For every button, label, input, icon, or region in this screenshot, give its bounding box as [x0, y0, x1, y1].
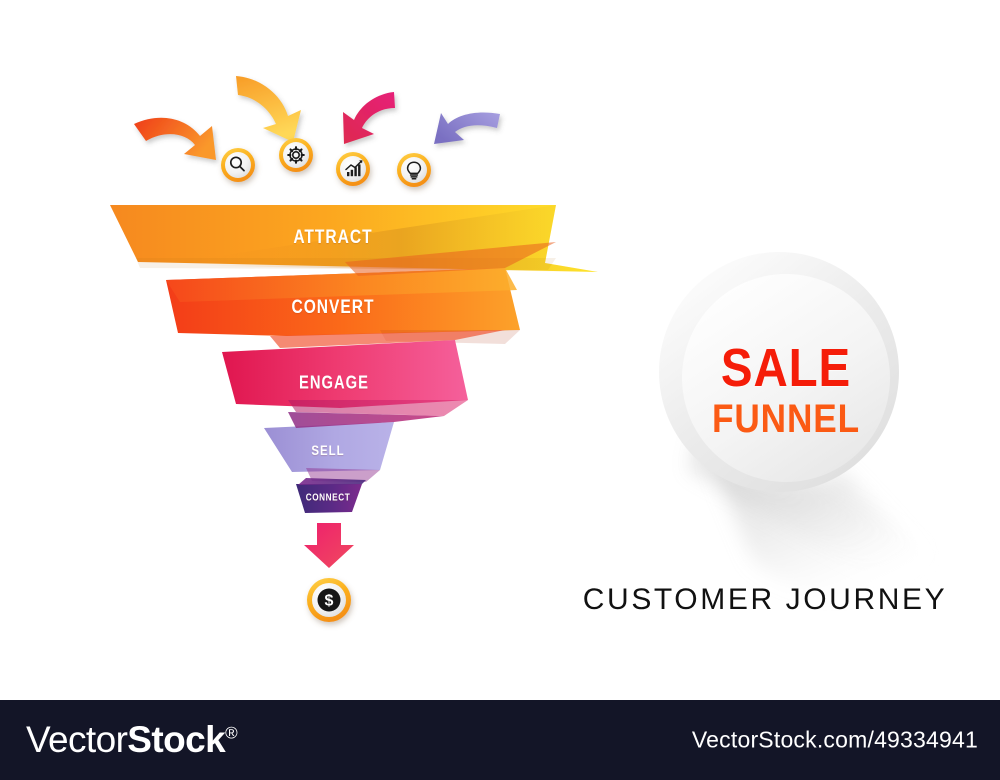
logo-word-stock: Stock — [127, 719, 225, 760]
arrow-purple-icon — [434, 112, 500, 144]
growth-chart-icon[interactable] — [336, 152, 370, 186]
sale-funnel-badge[interactable] — [659, 252, 930, 596]
logo-word-vector: Vector — [26, 719, 127, 760]
arrow-orange-red-icon — [134, 118, 216, 160]
badge-inner-face — [682, 274, 890, 482]
funnel-group — [110, 205, 598, 513]
lightbulb-icon[interactable] — [397, 153, 431, 187]
search-icon[interactable] — [221, 148, 255, 182]
watermark-bar: VectorStock® VectorStock.com/49334941 — [0, 700, 1000, 780]
outflow-group: $ — [304, 523, 354, 622]
watermark-url: VectorStock.com/49334941 — [692, 727, 978, 754]
artboard: $ ATTRACT CONVERT ENGAGE SELL CONNECT SA… — [0, 0, 1000, 700]
down-arrow-icon — [304, 523, 354, 568]
funnel-stage-connect[interactable] — [296, 478, 366, 513]
top-arrow-group — [134, 76, 500, 160]
dollar-coin-icon[interactable]: $ — [307, 578, 351, 622]
funnel-stage-sell[interactable] — [264, 412, 444, 482]
infographic-root: $ ATTRACT CONVERT ENGAGE SELL CONNECT SA… — [0, 0, 1000, 780]
gear-icon[interactable] — [279, 138, 313, 172]
arrow-pink-icon — [343, 92, 395, 144]
customer-journey-caption: CUSTOMER JOURNEY — [583, 583, 947, 617]
arrow-orange-yellow-icon — [236, 76, 301, 142]
vectorstock-logo: VectorStock® — [26, 719, 237, 761]
top-icon-circles — [221, 138, 431, 187]
registered-mark-icon: ® — [225, 724, 237, 743]
svg-text:$: $ — [325, 593, 334, 610]
